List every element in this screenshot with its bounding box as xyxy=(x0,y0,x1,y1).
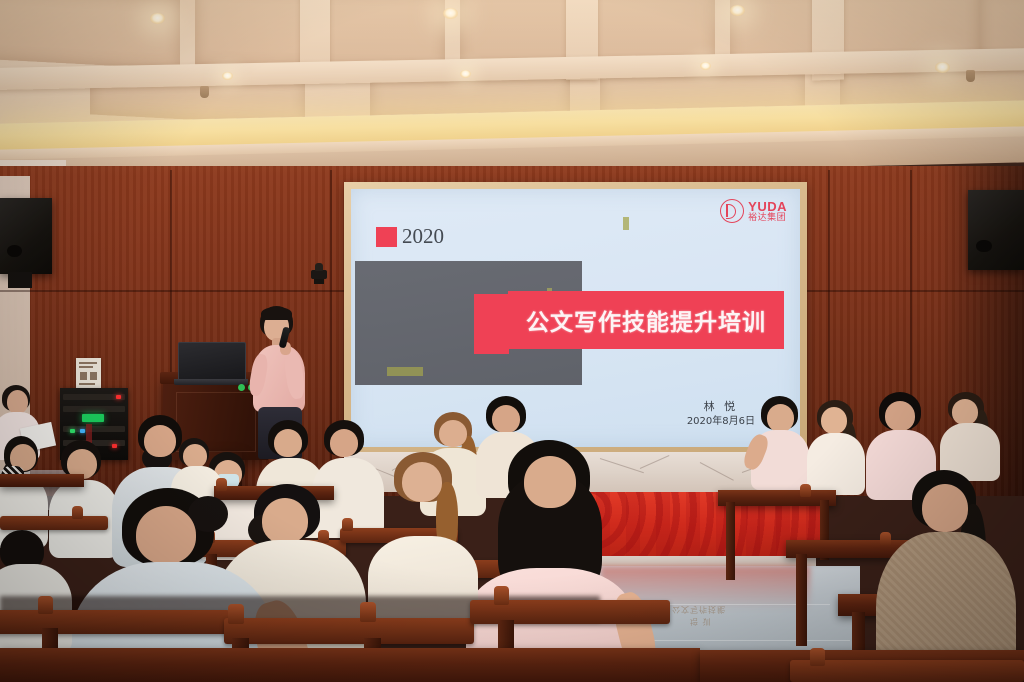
sprinkler-head xyxy=(200,86,209,98)
bench-desk-rail-front xyxy=(224,618,474,644)
wall-notice xyxy=(76,358,101,388)
slide-year-label: 2020 xyxy=(402,226,444,247)
bench-desk-rail-front xyxy=(0,610,230,634)
red-square-accent xyxy=(376,227,397,247)
bench-desk-knob xyxy=(810,648,825,666)
yuda-logo: YUDA 裕达集团 xyxy=(720,199,787,223)
bench-desk-knob xyxy=(38,596,53,614)
slide-title-banner: 公文写作技能提升培训 xyxy=(508,291,784,349)
presentation-slide: YUDA 裕达集团 2020 公文写作技能提升培训 xyxy=(351,189,800,447)
wall-camera xyxy=(311,270,327,279)
slide-presenter-block: 林 悦 2020年8月6日 xyxy=(687,399,755,429)
logo-text-cn: 裕达集团 xyxy=(748,214,787,223)
ceiling-downlight xyxy=(730,5,745,16)
slide-date: 2020年8月6日 xyxy=(687,415,755,430)
wall-speaker-right xyxy=(968,190,1024,270)
yuda-circle-logo-icon xyxy=(720,199,744,223)
bench-desk-knob xyxy=(228,604,244,624)
presenter-laptop-screen[interactable] xyxy=(178,342,246,382)
presenter-hair-front xyxy=(261,307,292,320)
projection-screen-frame: YUDA 裕达集团 2020 公文写作技能提升培训 xyxy=(344,182,807,454)
wall-speaker-left xyxy=(0,198,52,274)
slide-presenter-name: 林 悦 xyxy=(687,399,755,415)
floor-reflected-text-2: 培 训 xyxy=(690,616,712,627)
ceiling-downlight xyxy=(443,8,458,19)
bench-desk xyxy=(0,474,84,487)
ceiling-downlight xyxy=(150,13,165,24)
bench-desk-knob xyxy=(494,586,509,605)
ceiling-downlight xyxy=(935,62,950,73)
logo-text-en: YUDA xyxy=(748,200,787,213)
ceiling-downlight xyxy=(700,62,711,70)
mixer-display xyxy=(82,414,104,422)
ceiling-downlight xyxy=(222,72,233,80)
slide-red-block xyxy=(474,294,509,354)
bench-desk xyxy=(718,490,836,506)
ceiling-downlight xyxy=(460,70,471,78)
sprinkler-head xyxy=(966,70,975,82)
olive-accent-bar xyxy=(387,367,423,376)
bench-desk-rail xyxy=(0,516,108,530)
bench-desk-rail-right xyxy=(790,660,1024,682)
bench-desk-front xyxy=(0,648,700,682)
slide-year: 2020 xyxy=(376,226,444,247)
presenter-laptop-base[interactable] xyxy=(174,379,248,385)
slide-title-text: 公文写作技能提升培训 xyxy=(526,303,766,337)
olive-accent-chip xyxy=(623,217,629,230)
seminar-photograph: YUDA 裕达集团 2020 公文写作技能提升培训 xyxy=(0,0,1024,682)
floor-reflected-text: 公文写作技能 xyxy=(672,604,726,615)
bench-desk-knob xyxy=(360,602,376,622)
